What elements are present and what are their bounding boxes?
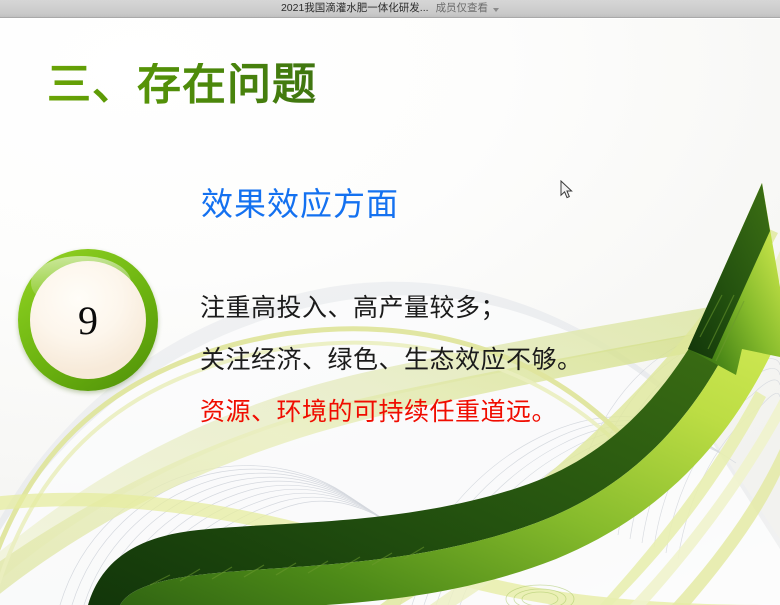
bullet-line-2: 关注经济、绿色、生态效应不够。 — [200, 334, 583, 386]
slide-number-badge: 9 — [18, 249, 158, 391]
chevron-down-icon[interactable] — [493, 8, 499, 12]
permission-label[interactable]: 成员仅查看 — [436, 3, 489, 14]
section-subtitle: 效果效应方面 — [201, 186, 399, 223]
window-titlebar: 2021我国滴灌水肥一体化研发... 成员仅查看 — [0, 0, 780, 18]
badge-face: 9 — [30, 261, 146, 379]
bullet-line-1: 注重高投入、高产量较多； — [200, 282, 583, 334]
document-title: 2021我国滴灌水肥一体化研发... — [281, 3, 429, 14]
bullet-list: 注重高投入、高产量较多； 关注经济、绿色、生态效应不够。 资源、环境的可持续任重… — [200, 282, 583, 438]
bullet-line-3: 资源、环境的可持续任重道远。 — [200, 386, 583, 438]
presentation-viewer: 2021我国滴灌水肥一体化研发... 成员仅查看 — [0, 0, 780, 605]
slide-canvas[interactable]: 三、存在问题 效果效应方面 9 注重高投入、高产量较多； 关注经济、绿色、生态效… — [0, 19, 780, 605]
badge-number: 9 — [78, 301, 98, 341]
titlebar-content: 2021我国滴灌水肥一体化研发... 成员仅查看 — [281, 3, 499, 14]
page-title: 三、存在问题 — [47, 63, 317, 107]
